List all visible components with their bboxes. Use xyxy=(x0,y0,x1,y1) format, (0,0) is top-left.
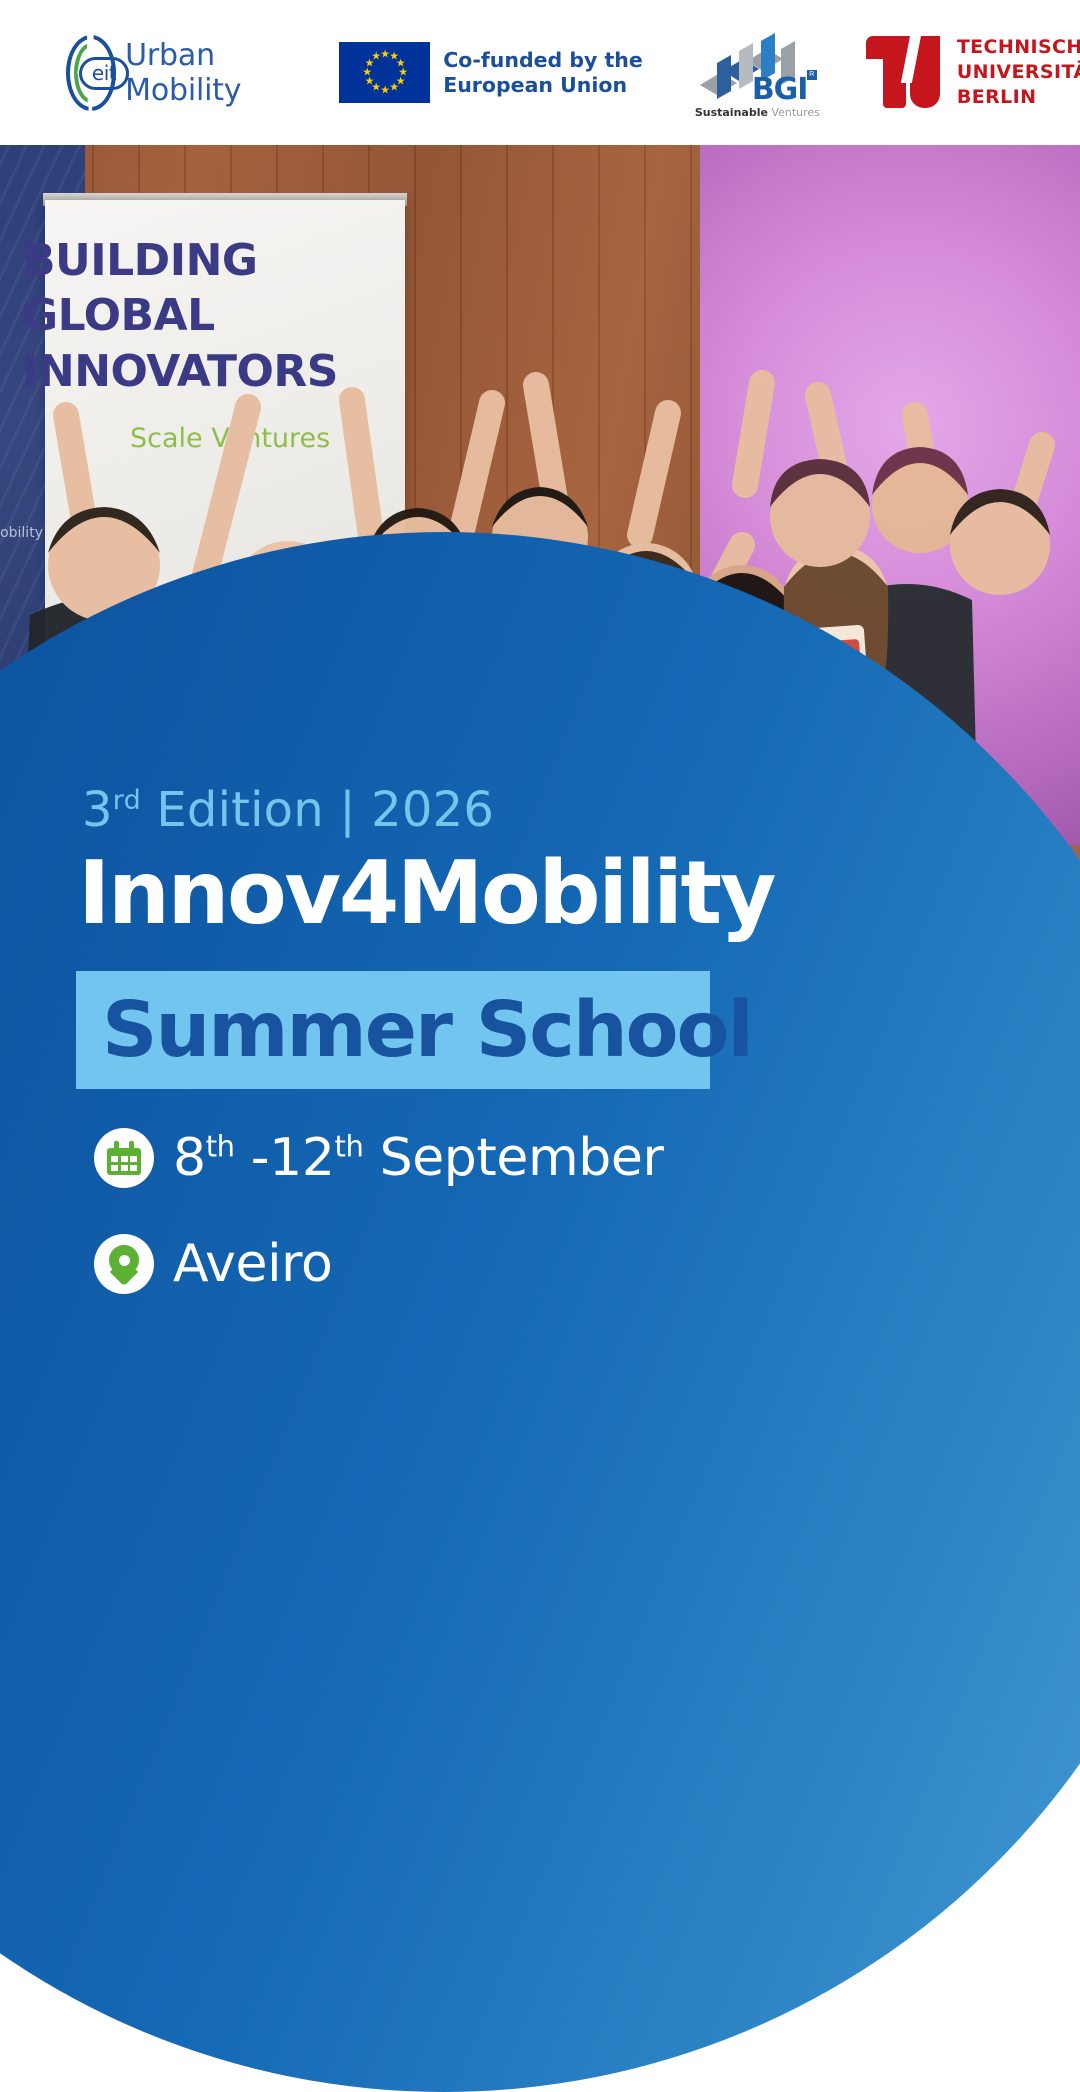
event-date-text: 8th -12th September xyxy=(173,1128,663,1188)
date-ordinal-start: th xyxy=(206,1130,235,1164)
sponsor-logo-bar: eit Urban Mobility ★★★★★★★★★★★★ Co-funde… xyxy=(0,0,1080,145)
eu-text-line1: Co-funded by the xyxy=(443,48,643,73)
bgi-acronym: BGI xyxy=(752,72,808,107)
bgi-logo: BGI R Sustainable Ventures xyxy=(695,24,820,122)
map-pin-icon-badge xyxy=(94,1234,154,1294)
tu-line3: BERLIN xyxy=(957,85,1080,110)
date-ordinal-end: th xyxy=(335,1130,364,1164)
eu-flag-icon: ★★★★★★★★★★★★ xyxy=(339,42,430,103)
calendar-icon-badge xyxy=(94,1128,154,1188)
subtitle-highlight-box: Summer School xyxy=(76,971,710,1089)
event-location-text: Aveiro xyxy=(173,1234,332,1294)
eu-star: ★ xyxy=(389,84,398,93)
eit-acronym: eit xyxy=(92,63,116,83)
european-union-logo: ★★★★★★★★★★★★ Co-funded by the European U… xyxy=(339,42,643,103)
date-day-end: 12 xyxy=(269,1128,334,1188)
bgi-tagline-bold: Sustainable xyxy=(695,106,768,119)
calendar-icon xyxy=(107,1141,141,1175)
page-subtitle: Summer School xyxy=(102,992,752,1069)
eit-urban-mobility-logo: eit Urban Mobility xyxy=(66,35,267,111)
eit-circle-icon: eit xyxy=(66,35,116,111)
date-month: September xyxy=(363,1128,663,1188)
eit-wordmark: Urban Mobility xyxy=(125,38,267,108)
eu-star: ★ xyxy=(362,68,371,77)
bgi-tagline: Sustainable Ventures xyxy=(695,106,820,119)
date-day-start: 8 xyxy=(173,1128,206,1188)
edition-label: 3rd Edition | 2026 xyxy=(82,782,494,838)
eu-star: ★ xyxy=(365,77,374,86)
eu-text-line2: European Union xyxy=(443,73,643,98)
page-title: Innov4Mobility xyxy=(78,850,774,937)
bgi-tagline-light: Ventures xyxy=(771,106,819,119)
tu-berlin-logo: TECHNISCHE UNIVERSITÄT BERLIN xyxy=(866,35,1080,110)
bgi-registered-mark: R xyxy=(807,70,817,80)
eu-funding-text: Co-funded by the European Union xyxy=(443,48,643,98)
date-separator: - xyxy=(235,1128,270,1188)
eu-star: ★ xyxy=(380,86,389,95)
tu-berlin-wordmark: TECHNISCHE UNIVERSITÄT BERLIN xyxy=(957,35,1080,110)
event-date-row: 8th -12th September xyxy=(94,1128,663,1188)
event-location-row: Aveiro xyxy=(94,1234,332,1294)
edition-number: 3 xyxy=(82,782,113,838)
map-pin-icon xyxy=(109,1245,139,1283)
hero-content: 3rd Edition | 2026 Innov4Mobility Summer… xyxy=(0,0,1080,1350)
edition-ordinal: rd xyxy=(113,785,141,816)
tu-line2: UNIVERSITÄT xyxy=(957,60,1080,85)
edition-rest: Edition | 2026 xyxy=(141,782,494,838)
eu-star: ★ xyxy=(371,52,380,61)
tu-monogram-icon xyxy=(866,36,944,108)
eu-star: ★ xyxy=(380,50,389,59)
tu-line1: TECHNISCHE xyxy=(957,35,1080,60)
